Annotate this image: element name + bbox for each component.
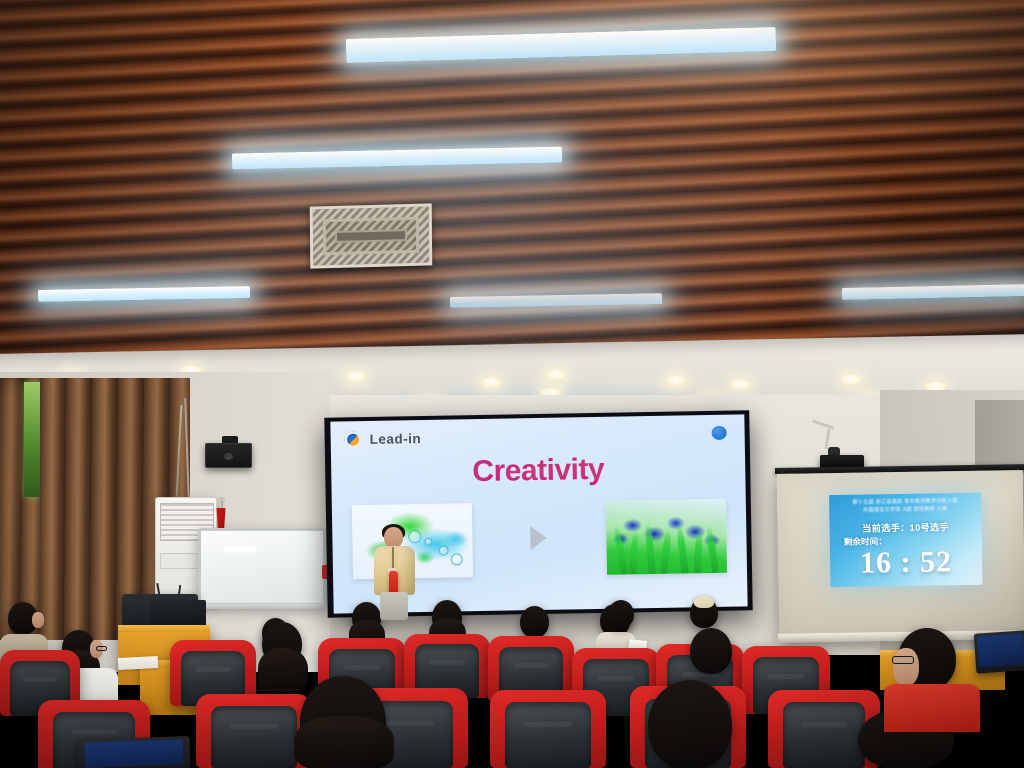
hair-bow-icon [694,596,714,608]
timer-current-contestant: 当前选手：10号选手 [829,519,981,535]
timer-display-panel: 第十五届 浙江省高校 青年教师教学创新大赛 外国语言文学类 A组 现场教学 比赛… [829,493,982,587]
whiteboard-marker-tray [200,604,324,609]
audience-head-r2-b [690,628,732,674]
seat-r3-4[interactable] [490,690,606,768]
audience-head-green [608,600,634,628]
wall-speaker [205,443,252,468]
laptop-screen-right [977,634,1024,668]
ceiling-air-diffuser-vent [310,203,432,268]
desk-paper-left [118,656,159,670]
downlight-8 [545,370,567,380]
slide-section-label: Lead-in [370,431,422,447]
audience-face-left-far [32,612,44,628]
presenter-lanyard [392,547,394,569]
projection-screen: 第十五届 浙江省高校 青年教师教学创新大赛 外国语言文学类 A组 现场教学 比赛… [777,470,1024,642]
downlight-6 [480,378,502,388]
audience-hair-r2-a [258,648,308,694]
slide-title: Creativity [331,450,746,491]
downlight-12 [840,375,862,385]
laptop-foreground-left[interactable] [77,736,190,768]
slide-arrow-icon [530,526,546,550]
audience-head-far-3 [520,606,549,638]
whiteboard [198,528,326,606]
downlight-11 [730,380,752,390]
window-daylight-gap [24,382,41,497]
slide-image-after [606,499,727,575]
presenter-head [384,527,403,548]
laptop-screen-left [84,739,183,767]
audience-hair-foreground-1 [294,716,394,768]
downlight-4 [345,372,367,382]
presenter-skirt [380,592,408,620]
blue-dot-icon [711,426,726,440]
downlight-9 [665,376,687,386]
audience-shirt-man-red [884,684,980,732]
timer-countdown-value: 16 : 52 [830,545,983,581]
audience-head-foreground-2 [648,680,732,768]
eyeglasses-icon-2 [892,656,914,664]
slide-logo-icon [345,431,362,448]
laptop-right[interactable] [974,630,1024,674]
podium-top-surface [118,625,210,632]
timer-competition-title: 第十五届 浙江省高校 青年教师教学创新大赛 外国语言文学类 A组 现场教学 比赛 [829,497,981,516]
lecture-hall-photo: Lead-in Creativity [0,0,1024,768]
eyeglasses-icon-1 [96,646,107,651]
audience-face-man-glasses [893,648,919,686]
presenter [372,527,416,619]
